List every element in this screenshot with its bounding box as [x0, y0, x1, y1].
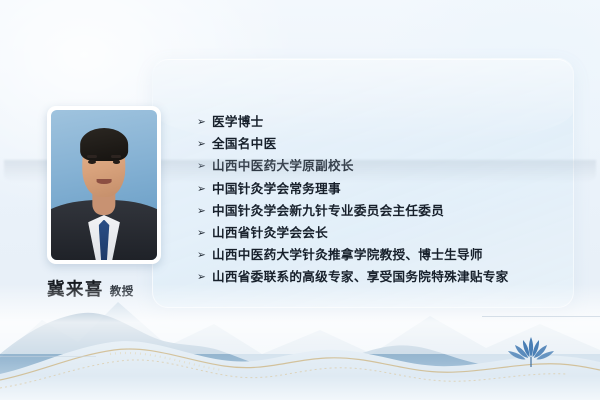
list-item: ➢ 山西省委联系的高级专家、享受国务院特殊津贴专家 — [197, 266, 559, 288]
arrow-bullet-icon: ➢ — [197, 222, 212, 244]
name-block: 冀来喜 教授 — [47, 276, 187, 301]
credential-text: 山西省针灸学会会长 — [212, 222, 328, 244]
eye-left — [88, 160, 95, 164]
arrow-bullet-icon: ➢ — [197, 111, 212, 133]
portrait — [47, 106, 161, 264]
lotus-motif-icon — [505, 333, 557, 367]
arrow-bullet-icon: ➢ — [197, 133, 212, 155]
arrow-bullet-icon: ➢ — [197, 244, 212, 266]
list-item: ➢ 中国针灸学会新九针专业委员会主任委员 — [197, 200, 559, 222]
portrait-frame — [47, 106, 161, 264]
credential-text: 中国针灸学会新九针专业委员会主任委员 — [212, 200, 444, 222]
person-name: 冀来喜 — [47, 276, 104, 301]
credentials-list: ➢ 医学博士 ➢ 全国名中医 ➢ 山西中医药大学原副校长 ➢ 中国针灸学会常务理… — [197, 111, 559, 289]
arrow-bullet-icon: ➢ — [197, 266, 212, 288]
credential-text: 山西省委联系的高级专家、享受国务院特殊津贴专家 — [212, 266, 509, 288]
credential-text: 医学博士 — [212, 111, 264, 133]
list-item: ➢ 全国名中医 — [197, 133, 559, 155]
eye-right — [113, 160, 120, 164]
eyebrow-right — [111, 155, 121, 158]
hairline-accent-left — [0, 356, 96, 357]
credential-text: 全国名中医 — [212, 133, 276, 155]
portrait-photo — [51, 110, 157, 260]
list-item: ➢ 山西中医药大学针灸推拿学院教授、博士生导师 — [197, 244, 559, 266]
list-item: ➢ 医学博士 — [197, 111, 559, 133]
profile-card-slide: ➢ 医学博士 ➢ 全国名中医 ➢ 山西中医药大学原副校长 ➢ 中国针灸学会常务理… — [0, 0, 600, 400]
credentials-panel: ➢ 医学博士 ➢ 全国名中医 ➢ 山西中医药大学原副校长 ➢ 中国针灸学会常务理… — [152, 58, 574, 308]
eyebrow-left — [87, 155, 97, 158]
list-item: ➢ 山西省针灸学会会长 — [197, 222, 559, 244]
person-title: 教授 — [110, 283, 134, 299]
hairline-accent-right — [482, 316, 600, 317]
arrow-bullet-icon: ➢ — [197, 200, 212, 222]
credential-text: 山西中医药大学针灸推拿学院教授、博士生导师 — [212, 244, 483, 266]
